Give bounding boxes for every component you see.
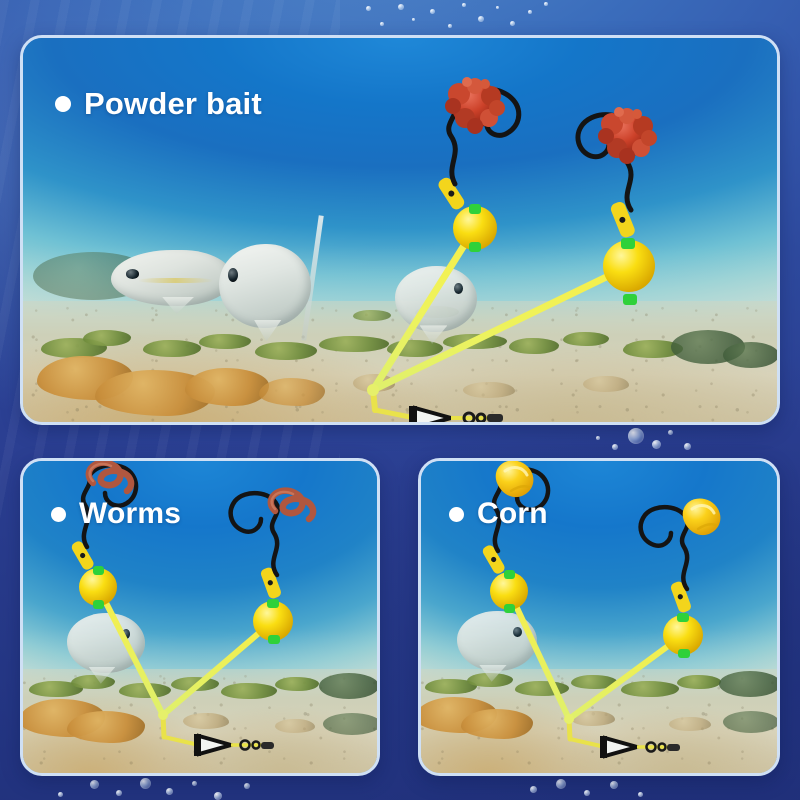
bead — [469, 204, 481, 214]
corn-bait-left — [496, 461, 534, 497]
bead — [267, 599, 279, 608]
panel-label-powder-bait: Powder bait — [55, 86, 262, 122]
bullet-dot-icon — [51, 507, 66, 522]
powder-bait-right — [598, 107, 657, 164]
bead — [677, 613, 689, 622]
powder-bait-left — [445, 77, 505, 134]
bullet-dot-icon — [449, 507, 464, 522]
bead — [678, 649, 690, 658]
panel-label-text: Worms — [79, 497, 181, 531]
sinker — [409, 406, 451, 422]
panel-worms[interactable]: Worms — [20, 458, 380, 776]
panel-label-text: Corn — [477, 497, 548, 531]
leader-line — [272, 505, 278, 575]
sinker — [194, 734, 231, 756]
bead — [469, 242, 481, 252]
bead — [623, 294, 637, 305]
bead — [93, 600, 104, 609]
leader-line — [682, 519, 688, 589]
bead — [504, 570, 515, 579]
panel-label-text: Powder bait — [84, 86, 262, 122]
bullet-dot-icon — [55, 96, 71, 112]
panel-label-corn: Corn — [449, 497, 548, 531]
bead — [504, 604, 515, 613]
bead — [93, 566, 104, 575]
panel-corn[interactable]: Corn — [418, 458, 780, 776]
panel-powder-bait[interactable]: Powder bait — [20, 35, 780, 425]
sinker — [600, 736, 637, 758]
bead — [621, 238, 635, 249]
panel-label-worms: Worms — [51, 497, 181, 531]
bead — [268, 635, 280, 644]
corn-bait-right — [683, 498, 721, 535]
